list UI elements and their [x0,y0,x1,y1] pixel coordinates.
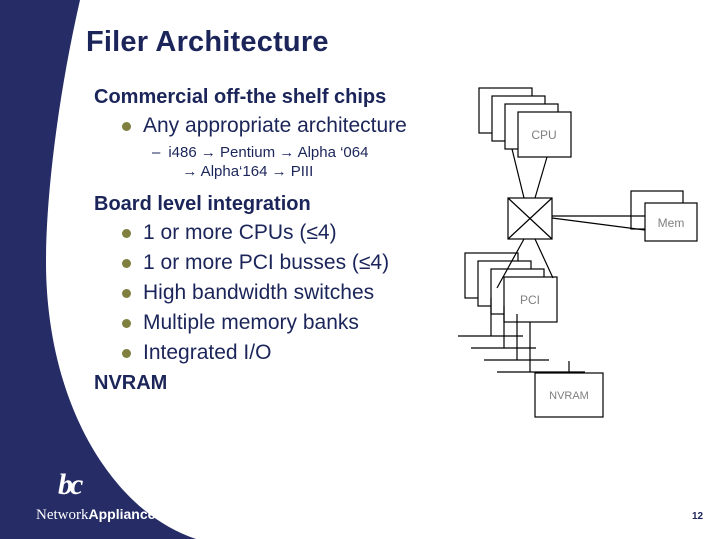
bullet-dot-icon [122,319,131,328]
slide-canvas: Filer Architecture Commercial off-the sh… [0,0,719,539]
bullet-dot-icon [122,259,131,268]
page-title: Filer Architecture [86,26,329,59]
bullet-label: Any appropriate architecture [143,111,407,141]
nvram-label: NVRAM [549,390,589,402]
slide-body: Commercial off-the shelf chips Any appro… [88,84,488,397]
bullet-label: Multiple memory banks [143,308,359,338]
bullet-dot-icon [122,122,131,131]
body-heading-commercial: Commercial off-the shelf chips [94,84,488,110]
sub-bullet-cpu-lineage: – i486 → Pentium → Alpha ‘064 → Alpha‘16… [152,143,488,181]
dash-marker-icon: – [152,143,160,162]
bullet-any-architecture: Any appropriate architecture [122,111,488,141]
bullet-label: 1 or more PCI busses (≤4) [143,248,389,278]
bullet-label: Integrated I/O [143,338,271,368]
link-cpu-front-switch [535,157,547,198]
bullet-pci-busses: 1 or more PCI busses (≤4) [122,248,488,278]
bullet-dot-icon [122,349,131,358]
bullet-label: 1 or more CPUs (≤4) [143,218,337,248]
bullet-integrated-io: Integrated I/O [122,338,488,368]
sub-bullet-text: i486 → Pentium → Alpha ‘064 → Alpha‘164 … [168,143,368,181]
sub-bullet-line-1: i486 → Pentium → Alpha ‘064 [168,144,368,161]
bullet-label: High bandwidth switches [143,278,374,308]
bullet-memory-banks: Multiple memory banks [122,308,488,338]
mem-label: Mem [658,216,685,230]
registered-mark-icon: ® [155,506,161,515]
wordmark-network: Network [36,507,89,523]
page-number: 12 [692,511,703,522]
body-heading-board-level: Board level integration [94,191,488,217]
bullet-dot-icon [122,289,131,298]
bullet-dot-icon [122,229,131,238]
netapp-wordmark: NetworkAppliance® [36,503,161,523]
cpu-label: CPU [531,128,556,142]
bullet-cpus: 1 or more CPUs (≤4) [122,218,488,248]
body-heading-nvram: NVRAM [94,370,488,396]
filer-architecture-diagram: CPU Mem PCI NVRAM [455,78,707,418]
netapp-mark-icon: bc [58,470,80,500]
sub-bullet-line-2: → Alpha‘164 → PIII [182,162,368,181]
wordmark-appliance: Appliance [89,506,156,522]
pci-label: PCI [520,293,540,307]
bullet-switches: High bandwidth switches [122,278,488,308]
network-appliance-logo: bc NetworkAppliance® [36,470,206,532]
